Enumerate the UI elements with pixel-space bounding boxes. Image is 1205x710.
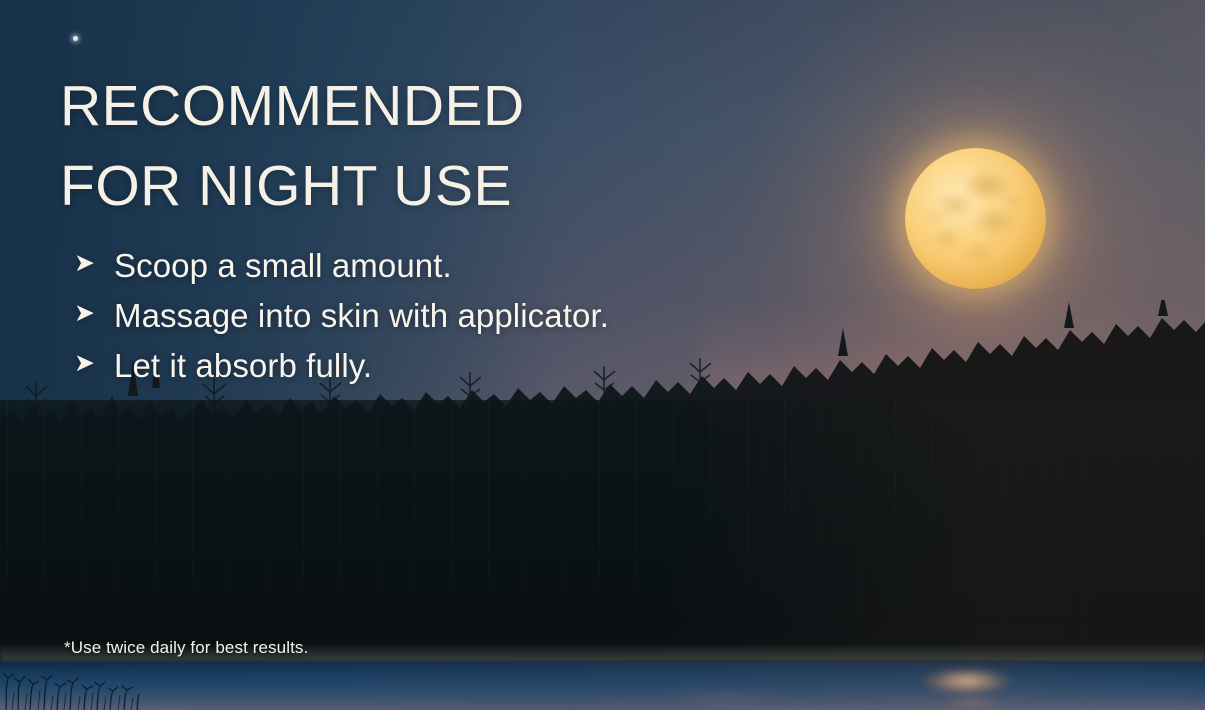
list-item: ➤ Massage into skin with applicator. bbox=[74, 293, 634, 339]
arrow-bullet-icon: ➤ bbox=[74, 301, 100, 326]
instruction-text: Let it absorb fully. bbox=[114, 343, 372, 389]
banner-text-overlay: RECOMMENDED FOR NIGHT USE ➤ Scoop a smal… bbox=[0, 0, 1205, 710]
arrow-bullet-icon: ➤ bbox=[74, 351, 100, 376]
instruction-text: Scoop a small amount. bbox=[114, 243, 452, 289]
instruction-list: ➤ Scoop a small amount. ➤ Massage into s… bbox=[74, 243, 634, 393]
page-title: RECOMMENDED FOR NIGHT USE bbox=[60, 66, 680, 226]
arrow-bullet-icon: ➤ bbox=[74, 251, 100, 276]
list-item: ➤ Let it absorb fully. bbox=[74, 343, 634, 389]
list-item: ➤ Scoop a small amount. bbox=[74, 243, 634, 289]
night-use-promo-banner: RECOMMENDED FOR NIGHT USE ➤ Scoop a smal… bbox=[0, 0, 1205, 710]
instruction-text: Massage into skin with applicator. bbox=[114, 293, 609, 339]
footnote-text: *Use twice daily for best results. bbox=[64, 637, 308, 659]
